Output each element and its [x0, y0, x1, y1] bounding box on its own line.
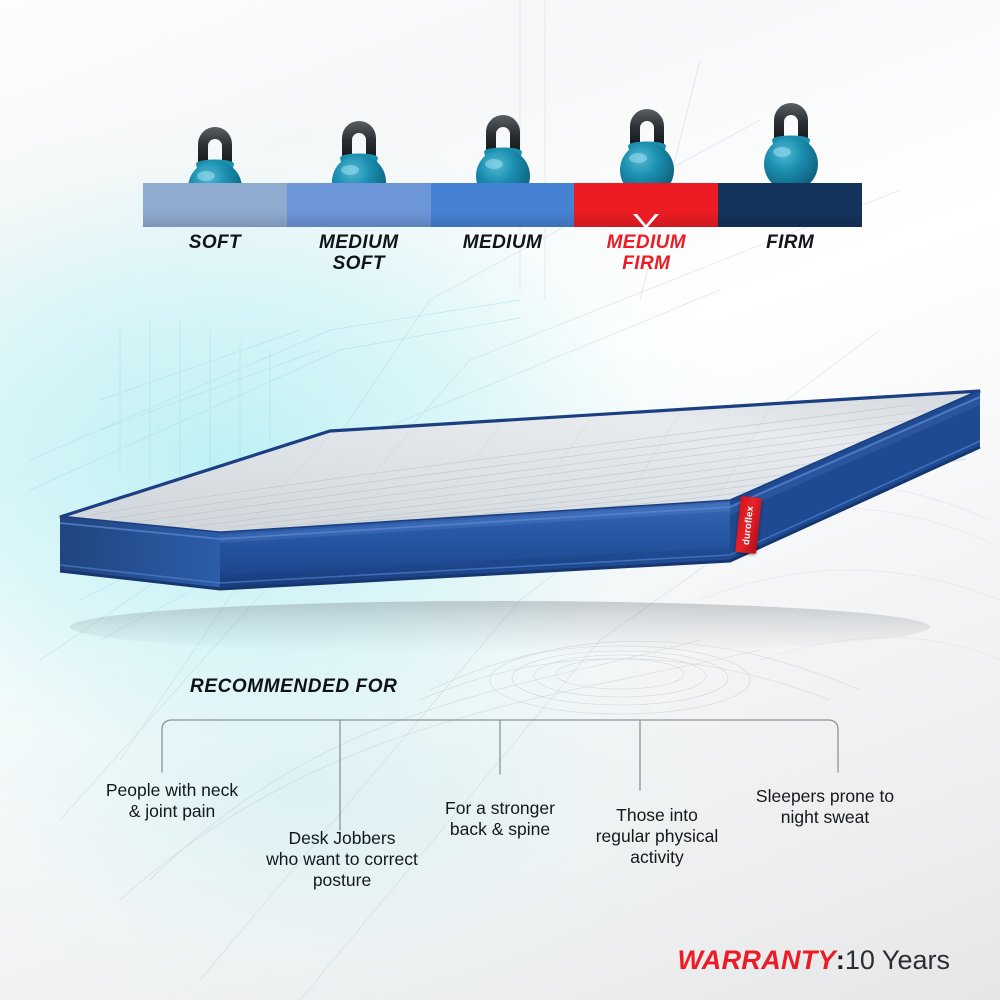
warranty-label: WARRANTY — [678, 945, 836, 975]
item-line-2: regular physical — [572, 826, 742, 847]
firmness-labels: SOFT MEDIUM SOFT MEDIUM MEDIUM FIRM FIRM — [143, 232, 862, 290]
firmness-label-firm: FIRM — [718, 232, 862, 290]
firmness-bar-firm[interactable] — [718, 183, 862, 227]
firmness-label-medium-soft: MEDIUM SOFT — [287, 232, 431, 290]
item-line-1: Sleepers prone to — [730, 786, 920, 807]
firmness-scale: SOFT MEDIUM SOFT MEDIUM MEDIUM FIRM FIRM — [143, 100, 862, 290]
item-line-1: Those into — [572, 805, 742, 826]
firmness-bar-medium-soft[interactable] — [287, 183, 431, 227]
label-line-2: SOFT — [287, 253, 431, 274]
bar-shadow — [718, 211, 862, 227]
warranty-separator: : — [836, 945, 845, 975]
item-line-1: For a stronger — [410, 798, 590, 819]
firmness-label-medium-firm: MEDIUM FIRM — [574, 232, 718, 290]
bar-shadow — [431, 211, 575, 227]
item-line-2: & joint pain — [72, 801, 272, 822]
recommended-item-3: For a stronger back & spine — [410, 798, 590, 840]
kettlebell-row — [143, 100, 862, 188]
warranty-value: 10 Years — [845, 945, 950, 975]
firmness-label-soft: SOFT — [143, 232, 287, 290]
recommended-item-1: People with neck & joint pain — [72, 780, 272, 822]
item-line-3: posture — [222, 870, 462, 891]
brand-name: duroflex — [741, 505, 756, 545]
firmness-bars — [143, 183, 862, 227]
item-line-2: back & spine — [410, 819, 590, 840]
warranty-footer: WARRANTY:10 Years — [678, 944, 951, 976]
kettlebell-firm — [748, 96, 834, 192]
firmness-bar-soft[interactable] — [143, 183, 287, 227]
recommended-for-heading: RECOMMENDED FOR — [190, 676, 397, 698]
label-line-1: FIRM — [718, 232, 862, 253]
label-line-1: MEDIUM — [574, 232, 718, 253]
recommended-item-5: Sleepers prone to night sweat — [730, 786, 920, 828]
bar-shadow — [287, 211, 431, 227]
selected-firmness-marker-icon — [633, 214, 659, 229]
firmness-bar-medium-firm[interactable] — [574, 183, 718, 227]
product-infographic: SOFT MEDIUM SOFT MEDIUM MEDIUM FIRM FIRM — [0, 0, 1000, 1000]
item-line-3: activity — [572, 847, 742, 868]
label-line-1: MEDIUM — [431, 232, 575, 253]
mattress-product-image — [30, 375, 990, 655]
firmness-bar-medium[interactable] — [431, 183, 575, 227]
label-line-1: SOFT — [143, 232, 287, 253]
bar-shadow — [143, 211, 287, 227]
item-line-2: who want to correct — [222, 849, 462, 870]
item-line-2: night sweat — [730, 807, 920, 828]
item-line-1: People with neck — [72, 780, 272, 801]
label-line-2: FIRM — [574, 253, 718, 274]
firmness-label-medium: MEDIUM — [431, 232, 575, 290]
label-line-1: MEDIUM — [287, 232, 431, 253]
recommended-item-4: Those into regular physical activity — [572, 805, 742, 868]
